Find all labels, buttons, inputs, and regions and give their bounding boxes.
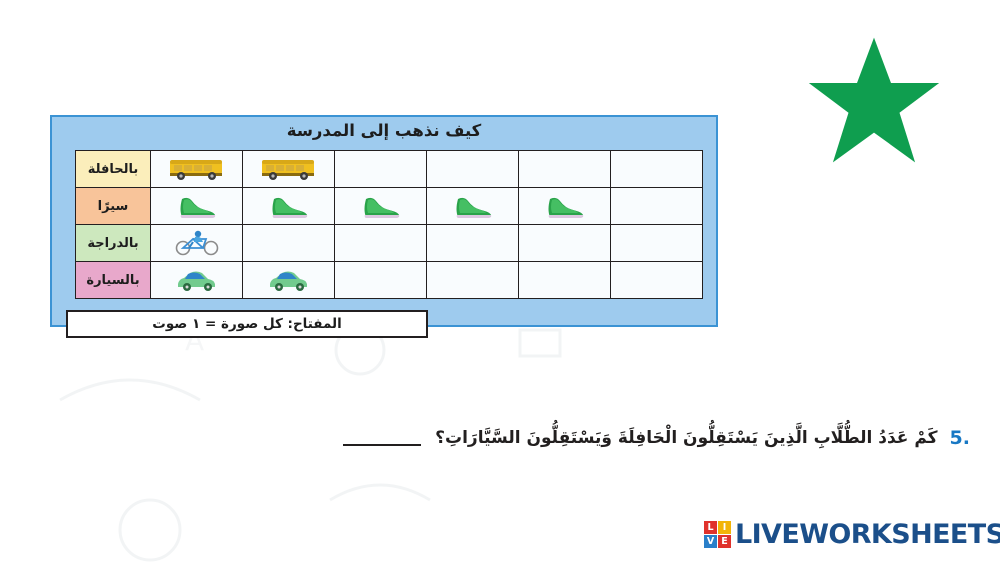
cell-walk-2[interactable] — [243, 188, 335, 225]
cell-bus-1[interactable] — [151, 151, 243, 188]
pictograph-table: بالحافلة — [75, 150, 703, 299]
bicycle-icon — [151, 226, 242, 260]
logo-square-l: L — [704, 521, 717, 534]
cell-walk-4[interactable] — [427, 188, 519, 225]
cell-walk-1[interactable] — [151, 188, 243, 225]
cell-car-1[interactable] — [151, 262, 243, 299]
row-label-walk: سيرًا — [76, 188, 151, 225]
cell-bicycle-1[interactable] — [151, 225, 243, 262]
pictograph-key-box: المفتاح: كل صورة = ١ صوت — [66, 310, 428, 338]
cell-walk-5[interactable] — [519, 188, 611, 225]
pictograph-title: كيف نذهب إلى المدرسة — [52, 121, 716, 140]
table-row: سيرًا — [76, 188, 703, 225]
table-row: بالحافلة — [76, 151, 703, 188]
question-number: 5. — [950, 427, 970, 449]
cell-bus-3[interactable] — [335, 151, 427, 188]
cell-car-6[interactable] — [611, 262, 703, 299]
green-car-icon — [243, 263, 334, 297]
cell-bus-6[interactable] — [611, 151, 703, 188]
cell-car-4[interactable] — [427, 262, 519, 299]
cell-car-2[interactable] — [243, 262, 335, 299]
logo-square-e: E — [718, 535, 731, 548]
cell-bus-2[interactable] — [243, 151, 335, 188]
green-star-icon — [786, 32, 962, 168]
logo-square-v: V — [704, 535, 717, 548]
table-row: بالدراجة — [76, 225, 703, 262]
cell-walk-3[interactable] — [335, 188, 427, 225]
green-shoe-icon — [243, 189, 334, 223]
cell-bus-4[interactable] — [427, 151, 519, 188]
cell-bicycle-6[interactable] — [611, 225, 703, 262]
row-label-bus: بالحافلة — [76, 151, 151, 188]
row-label-bicycle: بالدراجة — [76, 225, 151, 262]
pictograph-panel: كيف نذهب إلى المدرسة بالحافلة — [50, 115, 718, 327]
green-shoe-icon — [151, 189, 242, 223]
liveworksheets-logo: L I V E LIVEWORKSHEETS — [704, 517, 1000, 551]
school-bus-icon — [151, 152, 242, 186]
cell-bus-5[interactable] — [519, 151, 611, 188]
row-label-car: بالسيارة — [76, 262, 151, 299]
green-shoe-icon — [335, 189, 426, 223]
green-car-icon — [151, 263, 242, 297]
table-row: بالسيارة — [76, 262, 703, 299]
cell-bicycle-5[interactable] — [519, 225, 611, 262]
cell-bicycle-3[interactable] — [335, 225, 427, 262]
pictograph-key-text: المفتاح: كل صورة = ١ صوت — [152, 316, 341, 332]
logo-squares: L I V E — [704, 521, 731, 548]
cell-car-5[interactable] — [519, 262, 611, 299]
cell-bicycle-4[interactable] — [427, 225, 519, 262]
question-5: 5. كَمْ عَدَدُ الطُّلَّابِ الَّذِينَ يَس… — [0, 418, 1000, 458]
question-text: كَمْ عَدَدُ الطُّلَّابِ الَّذِينَ يَسْتَ… — [435, 428, 937, 448]
green-shoe-icon — [427, 189, 518, 223]
cell-car-3[interactable] — [335, 262, 427, 299]
logo-wordmark: LIVEWORKSHEETS — [735, 519, 1000, 550]
logo-square-i: I — [718, 521, 731, 534]
school-bus-icon — [243, 152, 334, 186]
green-shoe-icon — [519, 189, 610, 223]
cell-bicycle-2[interactable] — [243, 225, 335, 262]
cell-walk-6[interactable] — [611, 188, 703, 225]
answer-input[interactable] — [343, 430, 421, 446]
